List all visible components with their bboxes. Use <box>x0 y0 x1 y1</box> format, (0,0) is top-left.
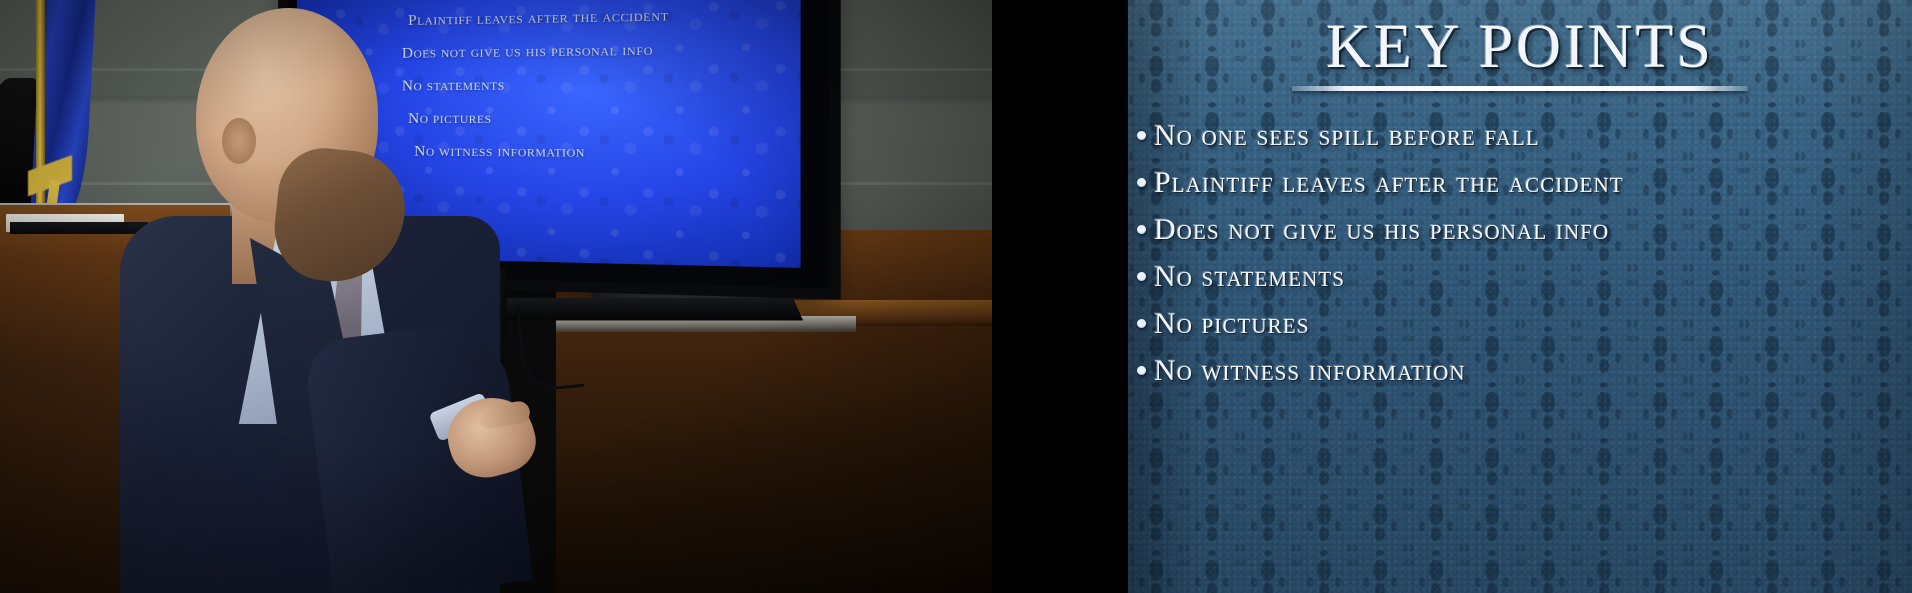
slide-content-layer: KEY POINTS No one sees spill before fall… <box>0 0 1912 593</box>
bullet-point-icon <box>1128 178 1154 187</box>
slide-title: KEY POINTS <box>1128 16 1912 78</box>
bullet-label: Plaintiff leaves after the accident <box>1154 166 1624 200</box>
bullet-list: No one sees spill before fall Plaintiff … <box>1128 112 1912 394</box>
list-item: No pictures <box>1128 300 1912 347</box>
bullet-label: No statements <box>1154 260 1345 294</box>
bullet-point-icon <box>1128 225 1154 234</box>
list-item: No witness information <box>1128 347 1912 394</box>
title-underline <box>1292 86 1748 91</box>
bullet-point-icon <box>1128 131 1154 140</box>
bullet-point-icon <box>1128 272 1154 281</box>
list-item: No one sees spill before fall <box>1128 112 1912 159</box>
list-item: No statements <box>1128 253 1912 300</box>
list-item: Plaintiff leaves after the accident <box>1128 159 1912 206</box>
bullet-point-icon <box>1128 319 1154 328</box>
bullet-point-icon <box>1128 366 1154 375</box>
bullet-label: No one sees spill before fall <box>1154 119 1540 153</box>
bullet-label: No pictures <box>1154 307 1310 341</box>
bullet-label: Does not give us his personal info <box>1154 213 1609 247</box>
list-item: Does not give us his personal info <box>1128 206 1912 253</box>
presentation-stage: • No one sees spill before fall Plaintif… <box>0 0 1912 593</box>
bullet-label: No witness information <box>1154 354 1466 388</box>
